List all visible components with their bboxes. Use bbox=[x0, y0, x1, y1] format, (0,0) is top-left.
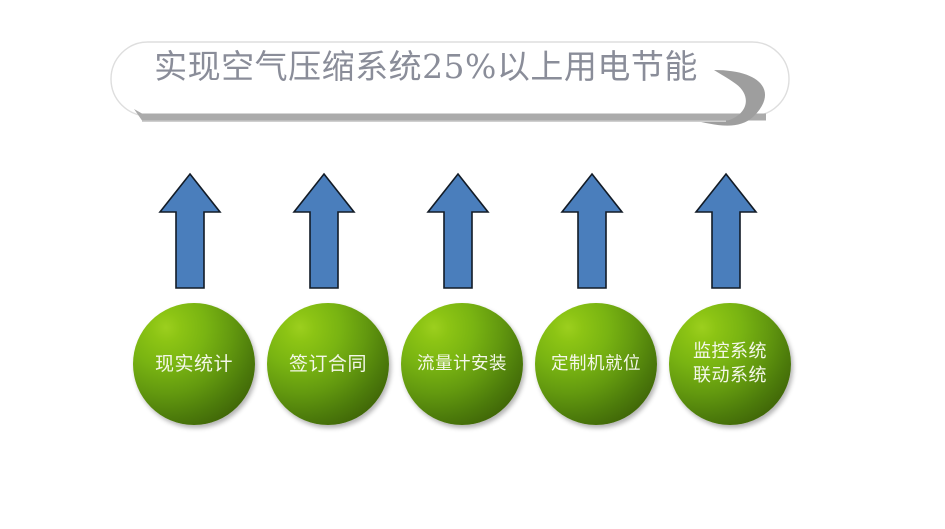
process-node-4[interactable]: 定制机就位 bbox=[535, 303, 657, 425]
process-node-3[interactable]: 流量计安装 bbox=[401, 303, 523, 425]
process-node-label: 监控系统 联动系统 bbox=[689, 340, 771, 388]
arrow-up-icon bbox=[158, 172, 222, 290]
arrow-up-3 bbox=[426, 172, 490, 290]
process-node-2[interactable]: 签订合同 bbox=[267, 303, 389, 425]
page-title: 实现空气压缩系统25%以上用电节能 bbox=[126, 44, 726, 90]
process-node-5[interactable]: 监控系统 联动系统 bbox=[669, 303, 791, 425]
arrow-up-icon bbox=[694, 172, 758, 290]
arrow-up-5 bbox=[694, 172, 758, 290]
arrow-up-icon bbox=[560, 172, 624, 290]
process-node-label: 现实统计 bbox=[151, 352, 237, 377]
process-node-label: 签订合同 bbox=[285, 352, 371, 377]
process-node-1[interactable]: 现实统计 bbox=[133, 303, 255, 425]
banner-bottom-bar bbox=[134, 109, 726, 121]
title-banner: 实现空气压缩系统25%以上用电节能 bbox=[126, 36, 774, 124]
slide-canvas: 实现空气压缩系统25%以上用电节能 现实统计 签订合同 流量计安装 定制机 bbox=[0, 0, 945, 529]
arrow-up-4 bbox=[560, 172, 624, 290]
arrow-up-1 bbox=[158, 172, 222, 290]
process-node-label: 流量计安装 bbox=[413, 352, 511, 377]
process-node-label: 定制机就位 bbox=[547, 352, 645, 377]
arrow-up-icon bbox=[426, 172, 490, 290]
arrow-up-2 bbox=[292, 172, 356, 290]
banner-bar-shadow bbox=[142, 121, 726, 123]
arrow-up-icon bbox=[292, 172, 356, 290]
